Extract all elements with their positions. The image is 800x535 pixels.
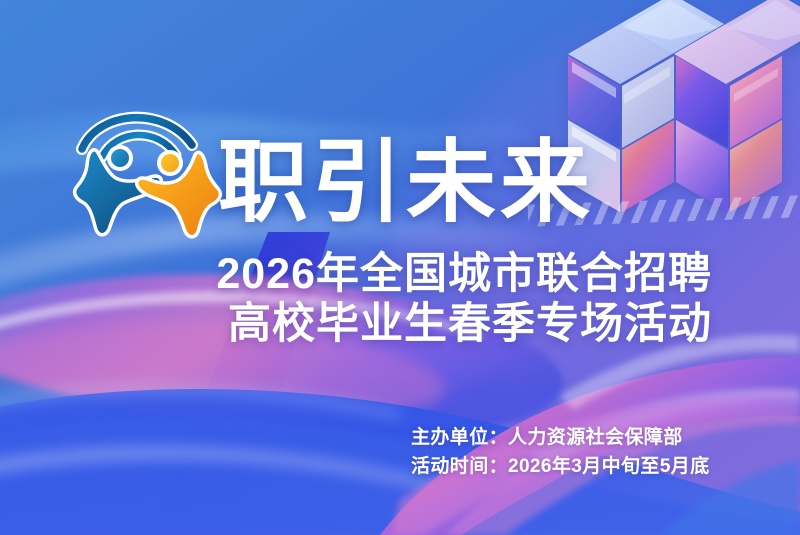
- organizer-line: 主办单位：人力资源社会保障部: [411, 424, 710, 453]
- orange-head-icon: [161, 154, 179, 172]
- orange-person-star-icon: [138, 150, 218, 235]
- footer-info-block: 主办单位：人力资源社会保障部 活动时间：2026年3月中旬至5月底: [411, 424, 710, 482]
- subtitle-block: 2026年全国城市联合招聘 高校毕业生春季专场活动: [216, 249, 712, 350]
- page-title: 职引未来: [218, 138, 594, 228]
- subtitle-line-1: 2026年全国城市联合招聘: [216, 249, 712, 299]
- blue-head-icon: [111, 149, 129, 167]
- zhiyin-weilai-logo: [72, 103, 240, 243]
- schedule-line: 活动时间：2026年3月中旬至5月底: [411, 453, 710, 482]
- recruitment-campaign-banner: 职引未来 2026年全国城市联合招聘 高校毕业生春季专场活动 主办单位：人力资源…: [0, 0, 800, 535]
- subtitle-line-2: 高校毕业生春季专场活动: [216, 299, 712, 349]
